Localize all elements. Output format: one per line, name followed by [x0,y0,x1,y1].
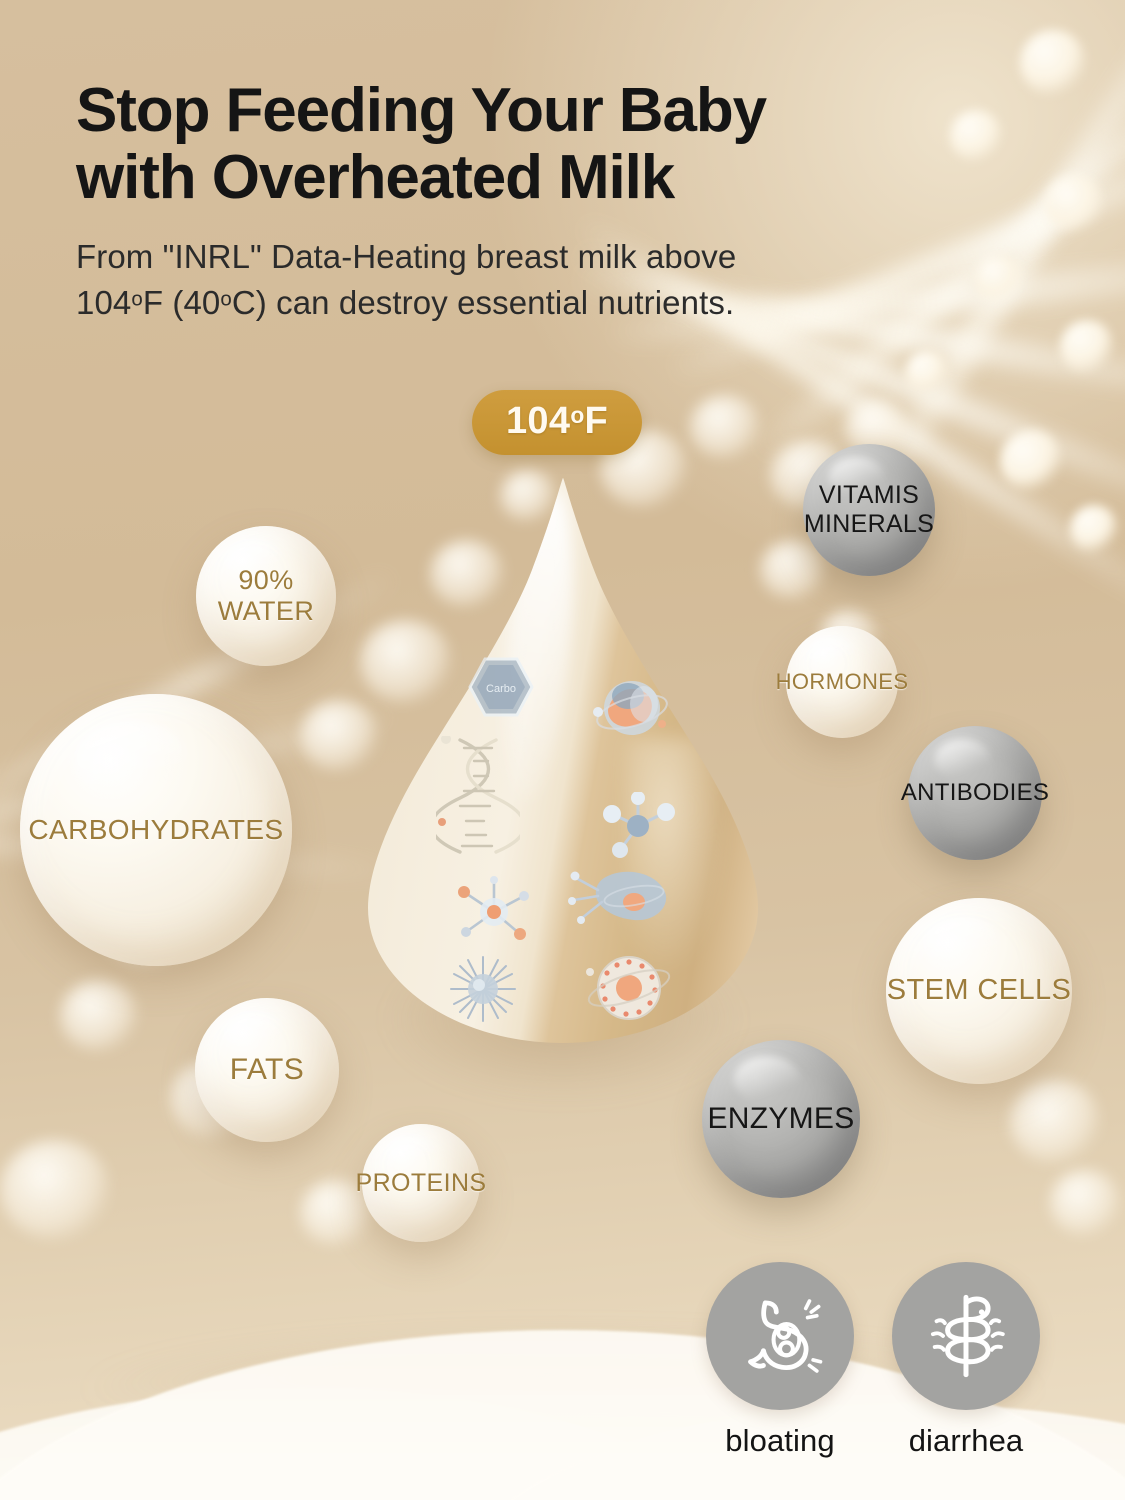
temperature-value: 104 [506,400,570,442]
bubble-gloss [734,1056,800,1103]
bubble-water[interactable]: 90% WATER [196,526,336,666]
methane-molecule-icon [600,792,678,860]
page-subtitle-line-2: 104oF (40oC) can destroy essential nutri… [76,280,1026,326]
subtitle-temp-f-value: 104 [76,284,131,321]
page-subtitle: From "INRL" Data-Heating breast milk abo… [76,234,1026,326]
bubble-gloss [74,721,188,803]
page-title-line-1: Stop Feeding Your Baby [76,78,1026,145]
bubble-hormones[interactable]: HORMONES [786,626,898,738]
bubble-vitamis-minerals[interactable]: VITAMIS MINERALS [803,444,935,576]
bokeh-dot [905,350,949,394]
stem-cell-icon [568,856,676,936]
symptom-diarrhea[interactable]: diarrhea [892,1262,1040,1459]
bubble-label-line-1: VITAMIS [804,481,934,510]
bubble-label: ENZYMES [707,1102,854,1137]
molecule-node-icon [454,876,534,948]
bokeh-dot [1070,505,1118,553]
symptom-bloating[interactable]: bloating [706,1262,854,1459]
bokeh-dot [1045,175,1103,233]
svg-text:Carbo: Carbo [486,683,516,695]
bubble-enzymes[interactable]: ENZYMES [702,1040,860,1198]
subtitle-post: C) can destroy essential nutrients. [232,284,734,321]
bubble-gloss [224,1012,284,1055]
bubble-label: STEM CELLS [887,974,1072,1008]
bokeh-dot [1000,430,1062,492]
symptom-icon-circle [892,1262,1040,1410]
temperature-badge: 104oF [472,390,642,455]
bokeh-light [690,395,760,459]
bubble-label-line-2: WATER [218,596,315,627]
bubble-label: CARBOHYDRATES [28,814,283,846]
intestine-diarrhea-icon [920,1290,1012,1382]
antibody-cell-icon [582,944,676,1032]
temperature-unit: F [585,400,609,442]
bubble-proteins[interactable]: PROTEINS [362,1124,480,1242]
bokeh-light [0,1140,110,1240]
degree-symbol: o [570,402,584,428]
bokeh-dot [1020,30,1086,96]
bokeh-light [1050,1170,1120,1236]
bubble-label: ANTIBODIES [901,779,1049,807]
bokeh-dot [1060,320,1114,374]
symptom-caption: diarrhea [892,1423,1040,1459]
header: Stop Feeding Your Baby with Overheated M… [76,78,1026,326]
bubble-label: PROTEINS [356,1169,487,1198]
milk-droplet: Carbo [368,478,758,1043]
stomach-bloating-icon [734,1290,826,1382]
bubble-label-line-1: 90% [218,565,315,596]
bubble-fats[interactable]: FATS [195,998,339,1142]
bubble-label: FATS [230,1053,304,1088]
page-subtitle-line-1: From "INRL" Data-Heating breast milk abo… [76,234,1026,280]
degree-symbol-c: o [220,288,231,311]
droplet-shape [368,478,758,1043]
symptoms-row: bloating [706,1262,1040,1459]
symptom-caption: bloating [706,1423,854,1459]
bubble-gloss [923,917,1001,973]
bubble-stem-cells[interactable]: STEM CELLS [886,898,1072,1084]
page-title: Stop Feeding Your Baby with Overheated M… [76,78,1026,212]
bokeh-light [1010,1080,1100,1164]
bubble-label: HORMONES [776,669,909,695]
bokeh-light [60,980,138,1052]
bubble-gloss [386,1136,436,1171]
bubble-gloss [935,739,991,779]
bokeh-light [300,700,378,772]
subtitle-mid: F (40 [143,284,221,321]
symptom-icon-circle [706,1262,854,1410]
bubble-carbohydrates[interactable]: CARBOHYDRATES [20,694,292,966]
bubble-label: VITAMIS MINERALS [804,481,934,539]
virus-spike-icon [448,954,518,1024]
degree-symbol-f: o [131,288,142,311]
carbohydrate-hexagon-icon: Carbo [468,656,534,718]
dna-helix-icon [436,736,520,854]
bubble-antibodies[interactable]: ANTIBODIES [908,726,1042,860]
bubble-gloss [808,637,855,671]
page-title-line-2: with Overheated Milk [76,145,1026,212]
hormone-cell-icon [582,668,674,754]
bubble-label-line-2: MINERALS [804,510,934,539]
bubble-label: 90% WATER [218,565,315,628]
